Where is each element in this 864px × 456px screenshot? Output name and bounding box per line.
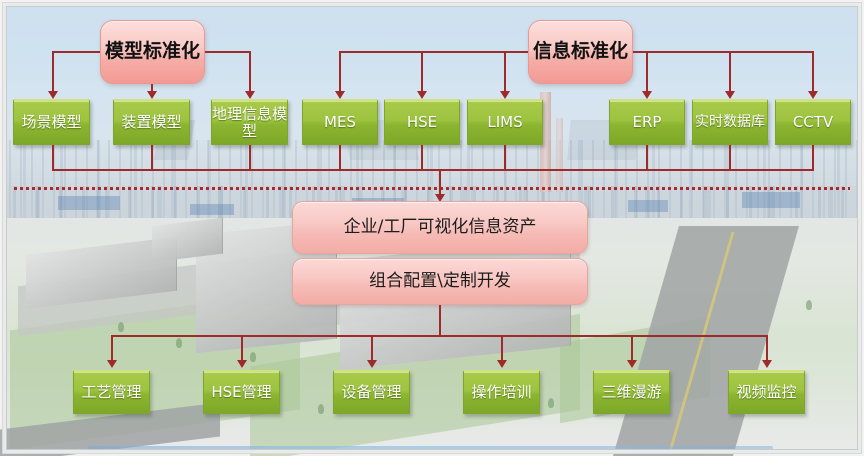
arrow-mes	[335, 91, 345, 99]
connector-apps-bus	[111, 335, 768, 337]
connector-info-bus-right	[633, 51, 813, 53]
node-label: HSE管理	[211, 384, 271, 401]
node-cctv[interactable]: CCTV	[775, 99, 851, 145]
node-realtime-db[interactable]: 实时数据库	[692, 99, 768, 145]
connector-up-hse	[421, 145, 423, 171]
arrow-app-6	[762, 360, 772, 368]
background-tree	[548, 398, 554, 408]
node-label: 地理信息模型	[212, 106, 287, 140]
arrow-app-1	[107, 360, 117, 368]
connector-info-drop-cctv	[812, 51, 814, 93]
node-mes[interactable]: MES	[302, 99, 378, 145]
node-equipment-management[interactable]: 设备管理	[333, 370, 410, 414]
arrow-model-3	[245, 91, 255, 99]
node-config-custom-dev[interactable]: 组合配置\定制开发	[292, 258, 588, 305]
arrow-model-1	[48, 91, 58, 99]
node-operation-training[interactable]: 操作培训	[463, 370, 540, 414]
connector-up-lims	[504, 145, 506, 171]
node-label: 工艺管理	[81, 384, 141, 401]
background-tree	[250, 352, 256, 362]
background-tree	[806, 300, 812, 310]
node-erp[interactable]: ERP	[609, 99, 685, 145]
diagram-canvas: 模型标准化 信息标准化 场景模型 装置模型 地理信息模型 MES HSE LIM…	[0, 0, 864, 456]
connector-info-drop-mes	[339, 51, 341, 93]
connector-up-device	[151, 145, 153, 171]
arrow-model-2	[147, 91, 157, 99]
node-label: ERP	[633, 114, 662, 131]
connector-app-drop-3	[371, 335, 373, 362]
connector-app-drop-4	[501, 335, 503, 362]
node-label: 信息标准化	[533, 41, 628, 62]
connector-app-drop-1	[111, 335, 113, 362]
background-chimney-2	[556, 118, 563, 192]
connector-up-mes	[339, 145, 341, 171]
node-information-standardization[interactable]: 信息标准化	[528, 20, 633, 84]
node-visual-info-asset[interactable]: 企业/工厂可视化信息资产	[292, 201, 588, 254]
node-label: 组合配置\定制开发	[369, 272, 511, 291]
node-label: HSE	[407, 114, 437, 131]
node-lims[interactable]: LIMS	[467, 99, 543, 145]
node-label: CCTV	[793, 114, 833, 131]
arrow-hse	[417, 91, 427, 99]
arrow-erp	[642, 91, 652, 99]
background-building-a	[58, 196, 120, 210]
connector-apps-feed	[439, 305, 441, 337]
connector-up-gis	[249, 145, 251, 171]
node-label: 场景模型	[21, 114, 81, 131]
node-process-management[interactable]: 工艺管理	[73, 370, 150, 414]
connector-up-db	[729, 145, 731, 171]
node-hse[interactable]: HSE	[384, 99, 460, 145]
connector-info-drop-erp	[646, 51, 648, 93]
connector-info-drop-hse	[421, 51, 423, 93]
background-tree	[176, 338, 182, 348]
background-tree	[318, 404, 324, 414]
node-video-surveillance[interactable]: 视频监控	[728, 370, 805, 414]
connector-up-cctv	[812, 145, 814, 171]
arrow-app-5	[627, 360, 637, 368]
node-gis-model[interactable]: 地理信息模型	[211, 99, 288, 145]
connector-info-drop-db	[729, 51, 731, 93]
node-label: 实时数据库	[695, 115, 765, 131]
section-divider	[14, 187, 850, 190]
arrow-app-3	[367, 360, 377, 368]
connector-info-bus-left	[339, 51, 529, 53]
arrow-lims	[500, 91, 510, 99]
arrow-cctv	[808, 91, 818, 99]
node-label: 三维漫游	[601, 384, 661, 401]
connector-app-drop-6	[766, 335, 768, 362]
node-label: 操作培训	[471, 384, 531, 401]
node-device-model[interactable]: 装置模型	[113, 99, 190, 145]
arrow-realtime-db	[725, 91, 735, 99]
arrow-app-2	[237, 360, 247, 368]
connector-info-drop-lims	[504, 51, 506, 93]
node-model-standardization[interactable]: 模型标准化	[100, 20, 205, 84]
bottom-accent-strip	[88, 446, 773, 452]
background-tree	[118, 322, 124, 332]
node-label: LIMS	[487, 114, 522, 131]
node-label: 企业/工厂可视化信息资产	[344, 218, 537, 237]
connector-app-drop-5	[631, 335, 633, 362]
connector-app-drop-2	[241, 335, 243, 362]
node-label: 视频监控	[736, 384, 796, 401]
node-label: 装置模型	[121, 114, 181, 131]
node-label: MES	[324, 114, 356, 131]
connector-up-scene	[52, 145, 54, 171]
connector-model-drop-1	[52, 51, 54, 93]
arrow-app-4	[497, 360, 507, 368]
node-label: 模型标准化	[105, 41, 200, 62]
connector-model-drop-3	[249, 51, 251, 93]
connector-core-collector-bus	[52, 169, 814, 171]
connector-up-erp	[646, 145, 648, 171]
background-building-d	[742, 192, 800, 208]
node-hse-management[interactable]: HSE管理	[203, 370, 280, 414]
node-3d-roaming[interactable]: 三维漫游	[593, 370, 670, 414]
node-scene-model[interactable]: 场景模型	[13, 99, 90, 145]
background-building-e	[628, 200, 668, 212]
background-building-b	[190, 204, 234, 215]
node-label: 设备管理	[341, 384, 401, 401]
